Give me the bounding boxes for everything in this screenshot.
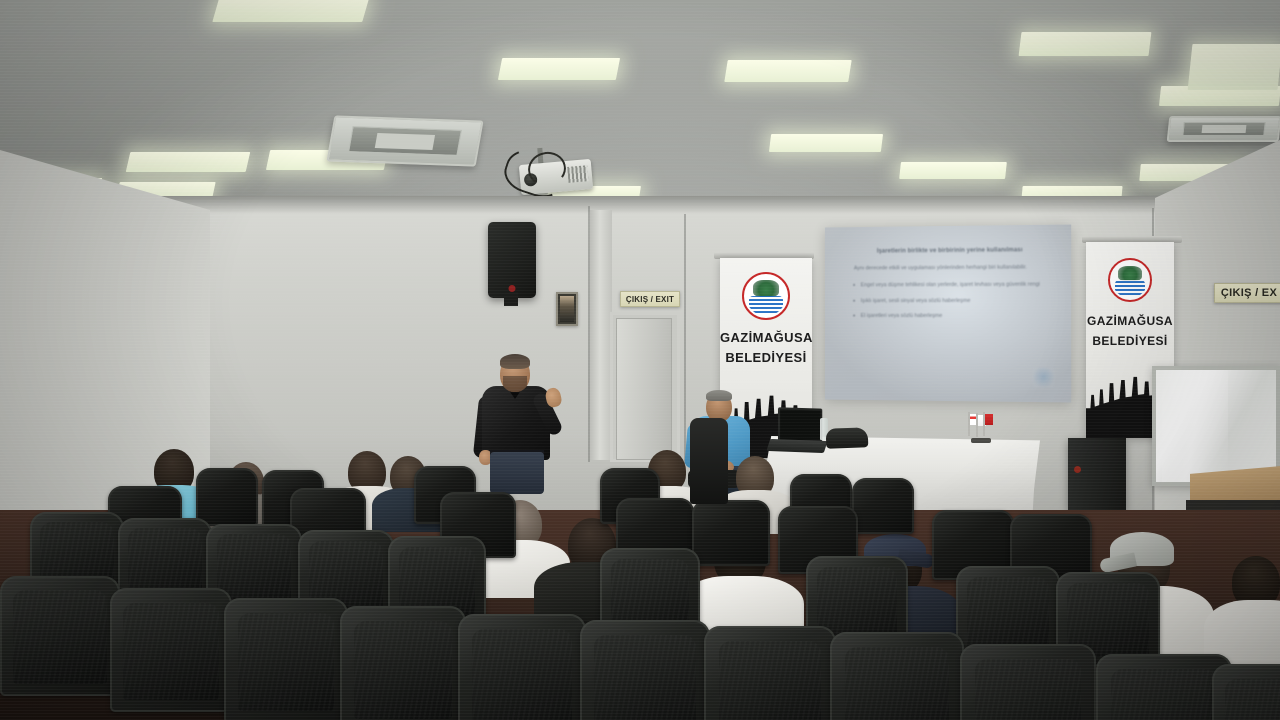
- auditorium-chair[interactable]: [458, 614, 586, 720]
- presentation-slide: İşaretlerin birlikte ve birbirinin yerin…: [840, 235, 1059, 390]
- auditorium-chair[interactable]: [580, 620, 710, 720]
- wall-pillar: [590, 210, 612, 460]
- auditorium-chair[interactable]: [340, 606, 466, 720]
- auditorium-chair[interactable]: [830, 632, 964, 720]
- wall-corner-edge: [684, 214, 686, 464]
- ceiling-light-panel: [1188, 44, 1280, 90]
- ceiling-light-panel: [724, 60, 851, 82]
- host-hair: [706, 390, 732, 401]
- office-chair-back[interactable]: [690, 418, 728, 504]
- auditorium-chair[interactable]: [692, 500, 770, 566]
- ceiling-light-panel: [126, 152, 251, 172]
- ceiling-light-panel: [899, 162, 1007, 179]
- presenter-beard: [503, 376, 527, 392]
- slide-bullet: Işıklı işaret, sesli sinyal veya sözlü h…: [852, 298, 1049, 306]
- slide-bullet: Engel veya düşme tehlikesi olan yerlerde…: [852, 282, 1049, 290]
- ceiling-light-panel: [212, 0, 369, 22]
- banner-left-line1: GAZİMAĞUSA: [720, 330, 812, 345]
- exit-sign-right: ÇIKIŞ / EX: [1214, 283, 1280, 303]
- turkey-desk-flag: [983, 420, 992, 436]
- desk-flag-set: [968, 420, 994, 446]
- slide-title: İşaretlerin birlikte ve birbirinin yerin…: [852, 247, 1049, 256]
- ceiling-ac-vent: [1167, 116, 1280, 142]
- slide-bullet: El işaretleri veya sözlü haberleşme: [852, 313, 1049, 321]
- auditorium-chair[interactable]: [1212, 664, 1280, 720]
- wall-speaker: [488, 222, 536, 298]
- seminar-room-photo: ÇIKIŞ / EXIT ÇIKIŞ / EX İşaretlerin birl…: [0, 0, 1280, 720]
- wall-corner-edge: [588, 206, 590, 462]
- auditorium-chair[interactable]: [704, 626, 836, 720]
- famagusta-crest-icon: [742, 272, 790, 320]
- slide-subtitle: Aynı derecede etkili ve uygulaması yönle…: [854, 264, 1047, 273]
- black-bag: [826, 427, 869, 448]
- banner-left-line2: BELEDİYESİ: [720, 350, 812, 365]
- auditorium-chair[interactable]: [0, 576, 120, 696]
- framed-portrait: [556, 292, 578, 326]
- exit-sign-left: ÇIKIŞ / EXIT: [620, 291, 680, 307]
- auditorium-chair[interactable]: [960, 644, 1096, 720]
- laptop-screen[interactable]: [778, 407, 822, 442]
- ceiling-ac-cassette: [326, 115, 483, 166]
- projector-vent: [567, 165, 588, 183]
- speaker-bracket: [504, 292, 518, 306]
- auditorium-chair[interactable]: [110, 588, 232, 712]
- ceiling-light-panel: [498, 58, 620, 80]
- banner-right-line2: BELEDİYESİ: [1086, 334, 1174, 348]
- presenter-hair: [500, 354, 530, 369]
- projection-screen: İşaretlerin birlikte ve birbirinin yerin…: [825, 225, 1071, 403]
- slide-corner-logo: [1032, 368, 1054, 388]
- exit-door[interactable]: [616, 318, 672, 460]
- ceiling-light-panel: [769, 134, 883, 152]
- flag-base: [971, 438, 991, 443]
- banner-right-line1: GAZİMAĞUSA: [1086, 314, 1174, 328]
- auditorium-chair[interactable]: [852, 478, 914, 534]
- floor-speaker: [1068, 438, 1126, 510]
- auditorium-chair[interactable]: [196, 468, 258, 526]
- laptop-keyboard[interactable]: [766, 439, 827, 453]
- ceiling-light-panel: [1019, 32, 1152, 56]
- famagusta-crest-icon: [1108, 258, 1152, 302]
- presenter-legs: [490, 452, 544, 494]
- auditorium-chair[interactable]: [224, 598, 348, 720]
